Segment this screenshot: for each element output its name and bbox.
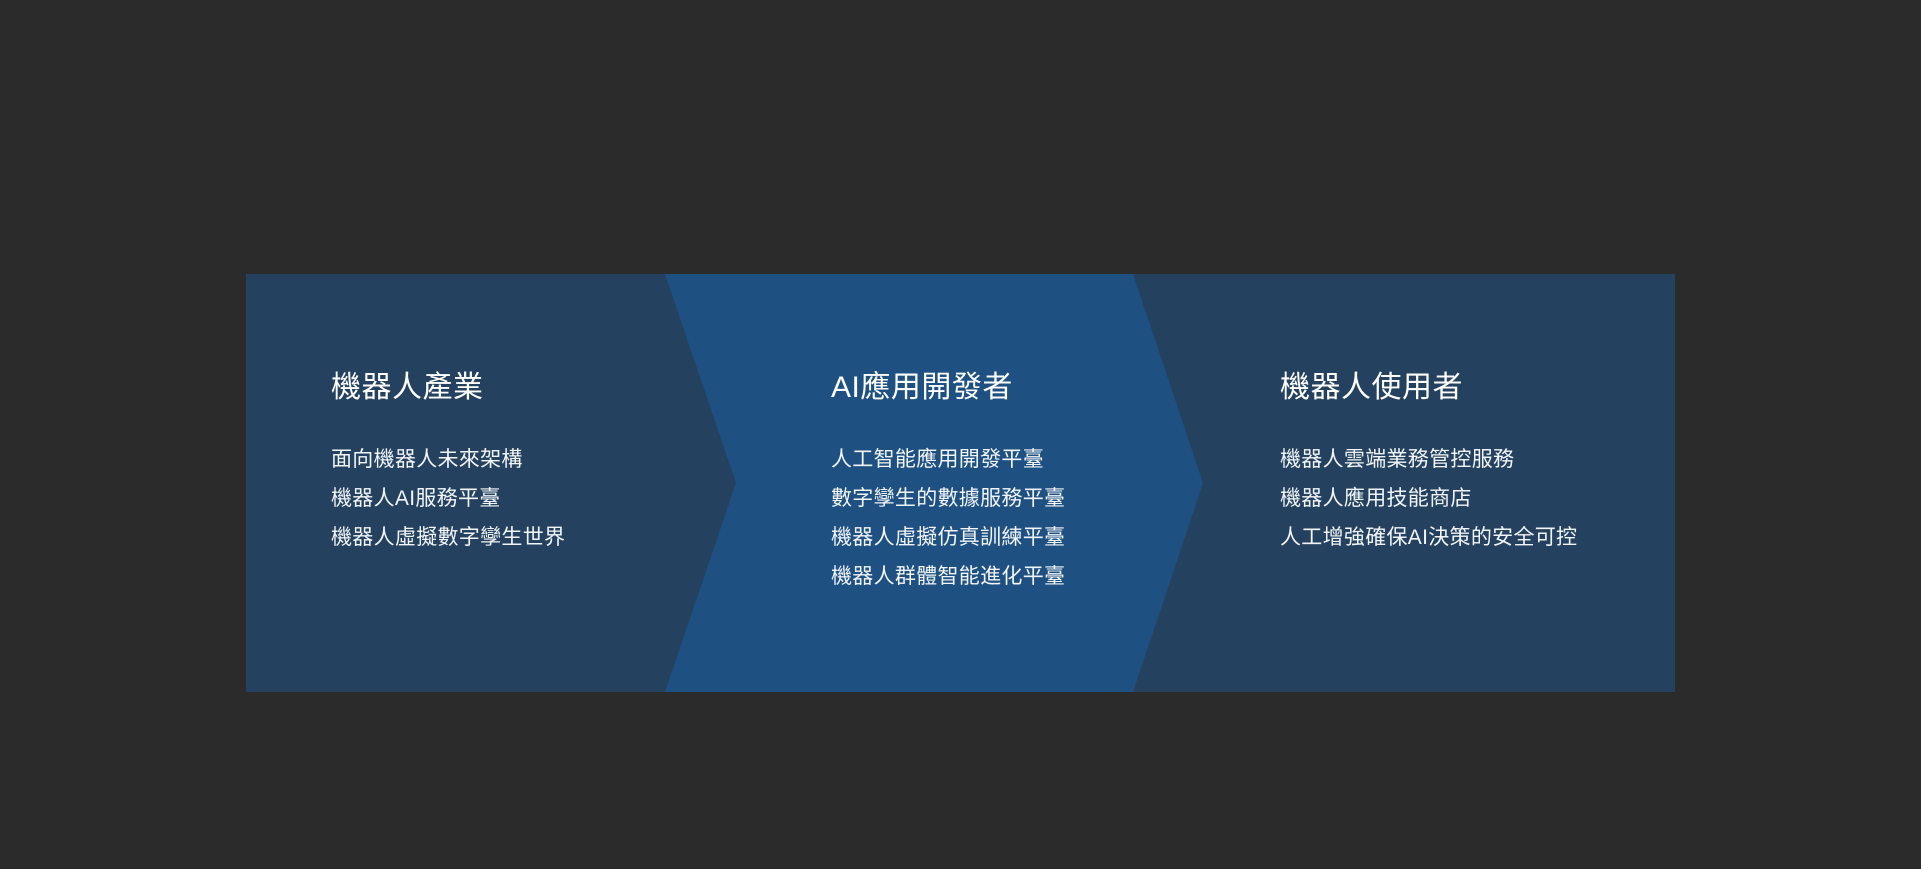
list-item: 數字孿生的數據服務平臺	[831, 479, 1065, 518]
list-item: 面向機器人未來架構	[331, 440, 565, 479]
list-item: 機器人應用技能商店	[1280, 479, 1577, 518]
list-item: 機器人雲端業務管控服務	[1280, 440, 1577, 479]
column-robot-user: 機器人使用者 機器人雲端業務管控服務 機器人應用技能商店 人工增強確保AI決策的…	[1280, 274, 1670, 692]
column-2-heading: AI應用開發者	[831, 370, 1013, 406]
column-1-list: 面向機器人未來架構 機器人AI服務平臺 機器人虛擬數字孿生世界	[331, 440, 565, 557]
column-3-heading: 機器人使用者	[1280, 370, 1463, 406]
list-item: 機器人AI服務平臺	[331, 479, 565, 518]
list-item: 機器人虛擬數字孿生世界	[331, 518, 565, 557]
column-3-list: 機器人雲端業務管控服務 機器人應用技能商店 人工增強確保AI決策的安全可控	[1280, 440, 1577, 557]
column-1-heading: 機器人產業	[331, 370, 484, 406]
list-item: 機器人虛擬仿真訓練平臺	[831, 518, 1065, 557]
list-item: 人工增強確保AI決策的安全可控	[1280, 518, 1577, 557]
list-item: 人工智能應用開發平臺	[831, 440, 1065, 479]
slide-canvas: 機器人產業 面向機器人未來架構 機器人AI服務平臺 機器人虛擬數字孿生世界 AI…	[0, 0, 1921, 869]
column-ai-app-developer: AI應用開發者 人工智能應用開發平臺 數字孿生的數據服務平臺 機器人虛擬仿真訓練…	[831, 274, 1231, 692]
column-2-list: 人工智能應用開發平臺 數字孿生的數據服務平臺 機器人虛擬仿真訓練平臺 機器人群體…	[831, 440, 1065, 596]
column-robot-industry: 機器人產業 面向機器人未來架構 機器人AI服務平臺 機器人虛擬數字孿生世界	[331, 274, 711, 692]
list-item: 機器人群體智能進化平臺	[831, 557, 1065, 596]
chevron-banner: 機器人產業 面向機器人未來架構 機器人AI服務平臺 機器人虛擬數字孿生世界 AI…	[246, 274, 1675, 692]
